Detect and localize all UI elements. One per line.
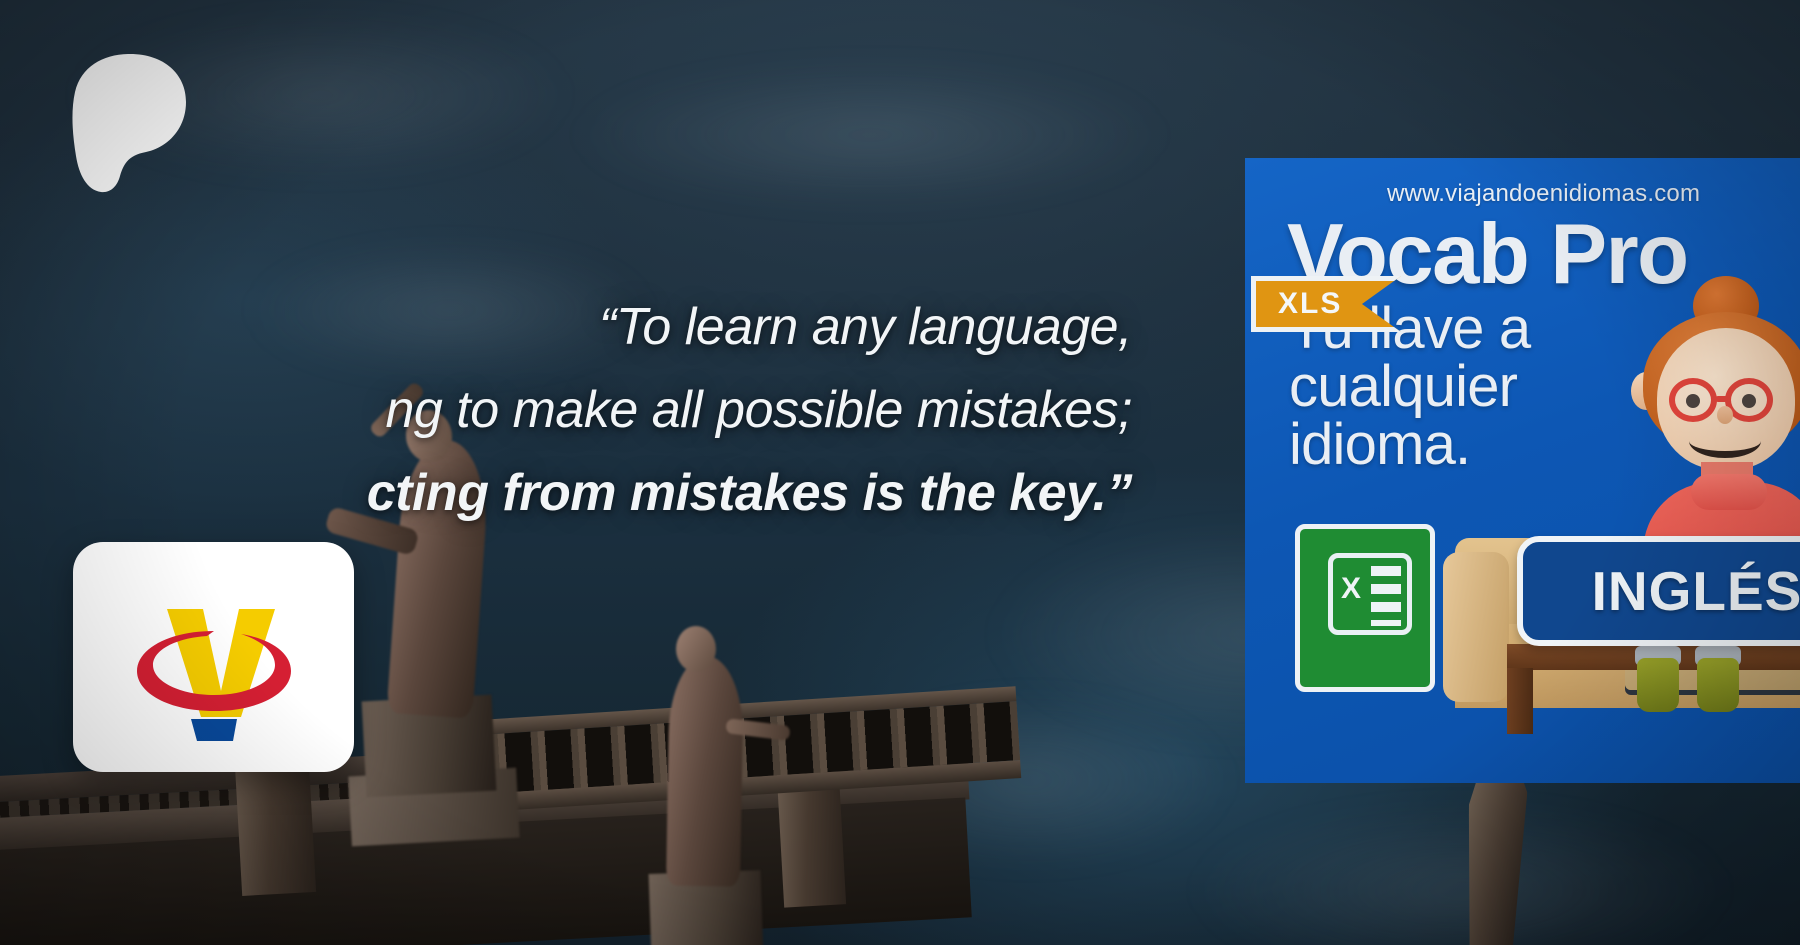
excel-x-glyph: X bbox=[1341, 576, 1361, 602]
banner-website-url: www.viajandoenidiomas.com bbox=[1387, 180, 1700, 208]
advertisement-banner[interactable]: www.viajandoenidiomas.com Vocab Pro Tu l… bbox=[1245, 158, 1800, 783]
patreon-logo-icon[interactable] bbox=[68, 52, 188, 194]
rooftop-statue-right bbox=[640, 600, 810, 930]
viajando-en-idiomas-logo-icon bbox=[123, 595, 305, 745]
ingles-cta-label: INGLÉS bbox=[1592, 559, 1800, 623]
cloud-wisp bbox=[560, 60, 1180, 210]
quote-line-3: cting from mistakes is the key.” bbox=[0, 452, 1132, 535]
boot-left bbox=[1637, 658, 1679, 712]
glasses-bridge bbox=[1715, 396, 1731, 402]
hero-quote: “To learn any language, ng to make all p… bbox=[0, 286, 1140, 535]
statue-body bbox=[666, 655, 744, 886]
xls-badge-label: XLS bbox=[1256, 287, 1342, 321]
table-leg bbox=[1507, 668, 1533, 734]
sofa-arm-left bbox=[1443, 552, 1509, 702]
glasses-lens-left bbox=[1669, 378, 1717, 422]
screen-canvas: “To learn any language, ng to make all p… bbox=[0, 0, 1800, 945]
ingles-cta-button[interactable]: INGLÉS bbox=[1517, 536, 1800, 646]
spreadsheet-cells bbox=[1371, 566, 1401, 626]
quote-line-2: ng to make all possible mistakes; bbox=[0, 369, 1132, 452]
statue-head bbox=[676, 626, 716, 672]
nose bbox=[1717, 406, 1733, 424]
quote-line-1: “To learn any language, bbox=[0, 286, 1132, 369]
app-icon-card[interactable] bbox=[73, 542, 354, 772]
turtleneck-collar bbox=[1691, 474, 1767, 510]
smile bbox=[1689, 424, 1761, 458]
spreadsheet-grid-icon: X bbox=[1328, 553, 1412, 635]
boot-right bbox=[1697, 658, 1739, 712]
excel-spreadsheet-icon[interactable]: X bbox=[1295, 524, 1435, 692]
